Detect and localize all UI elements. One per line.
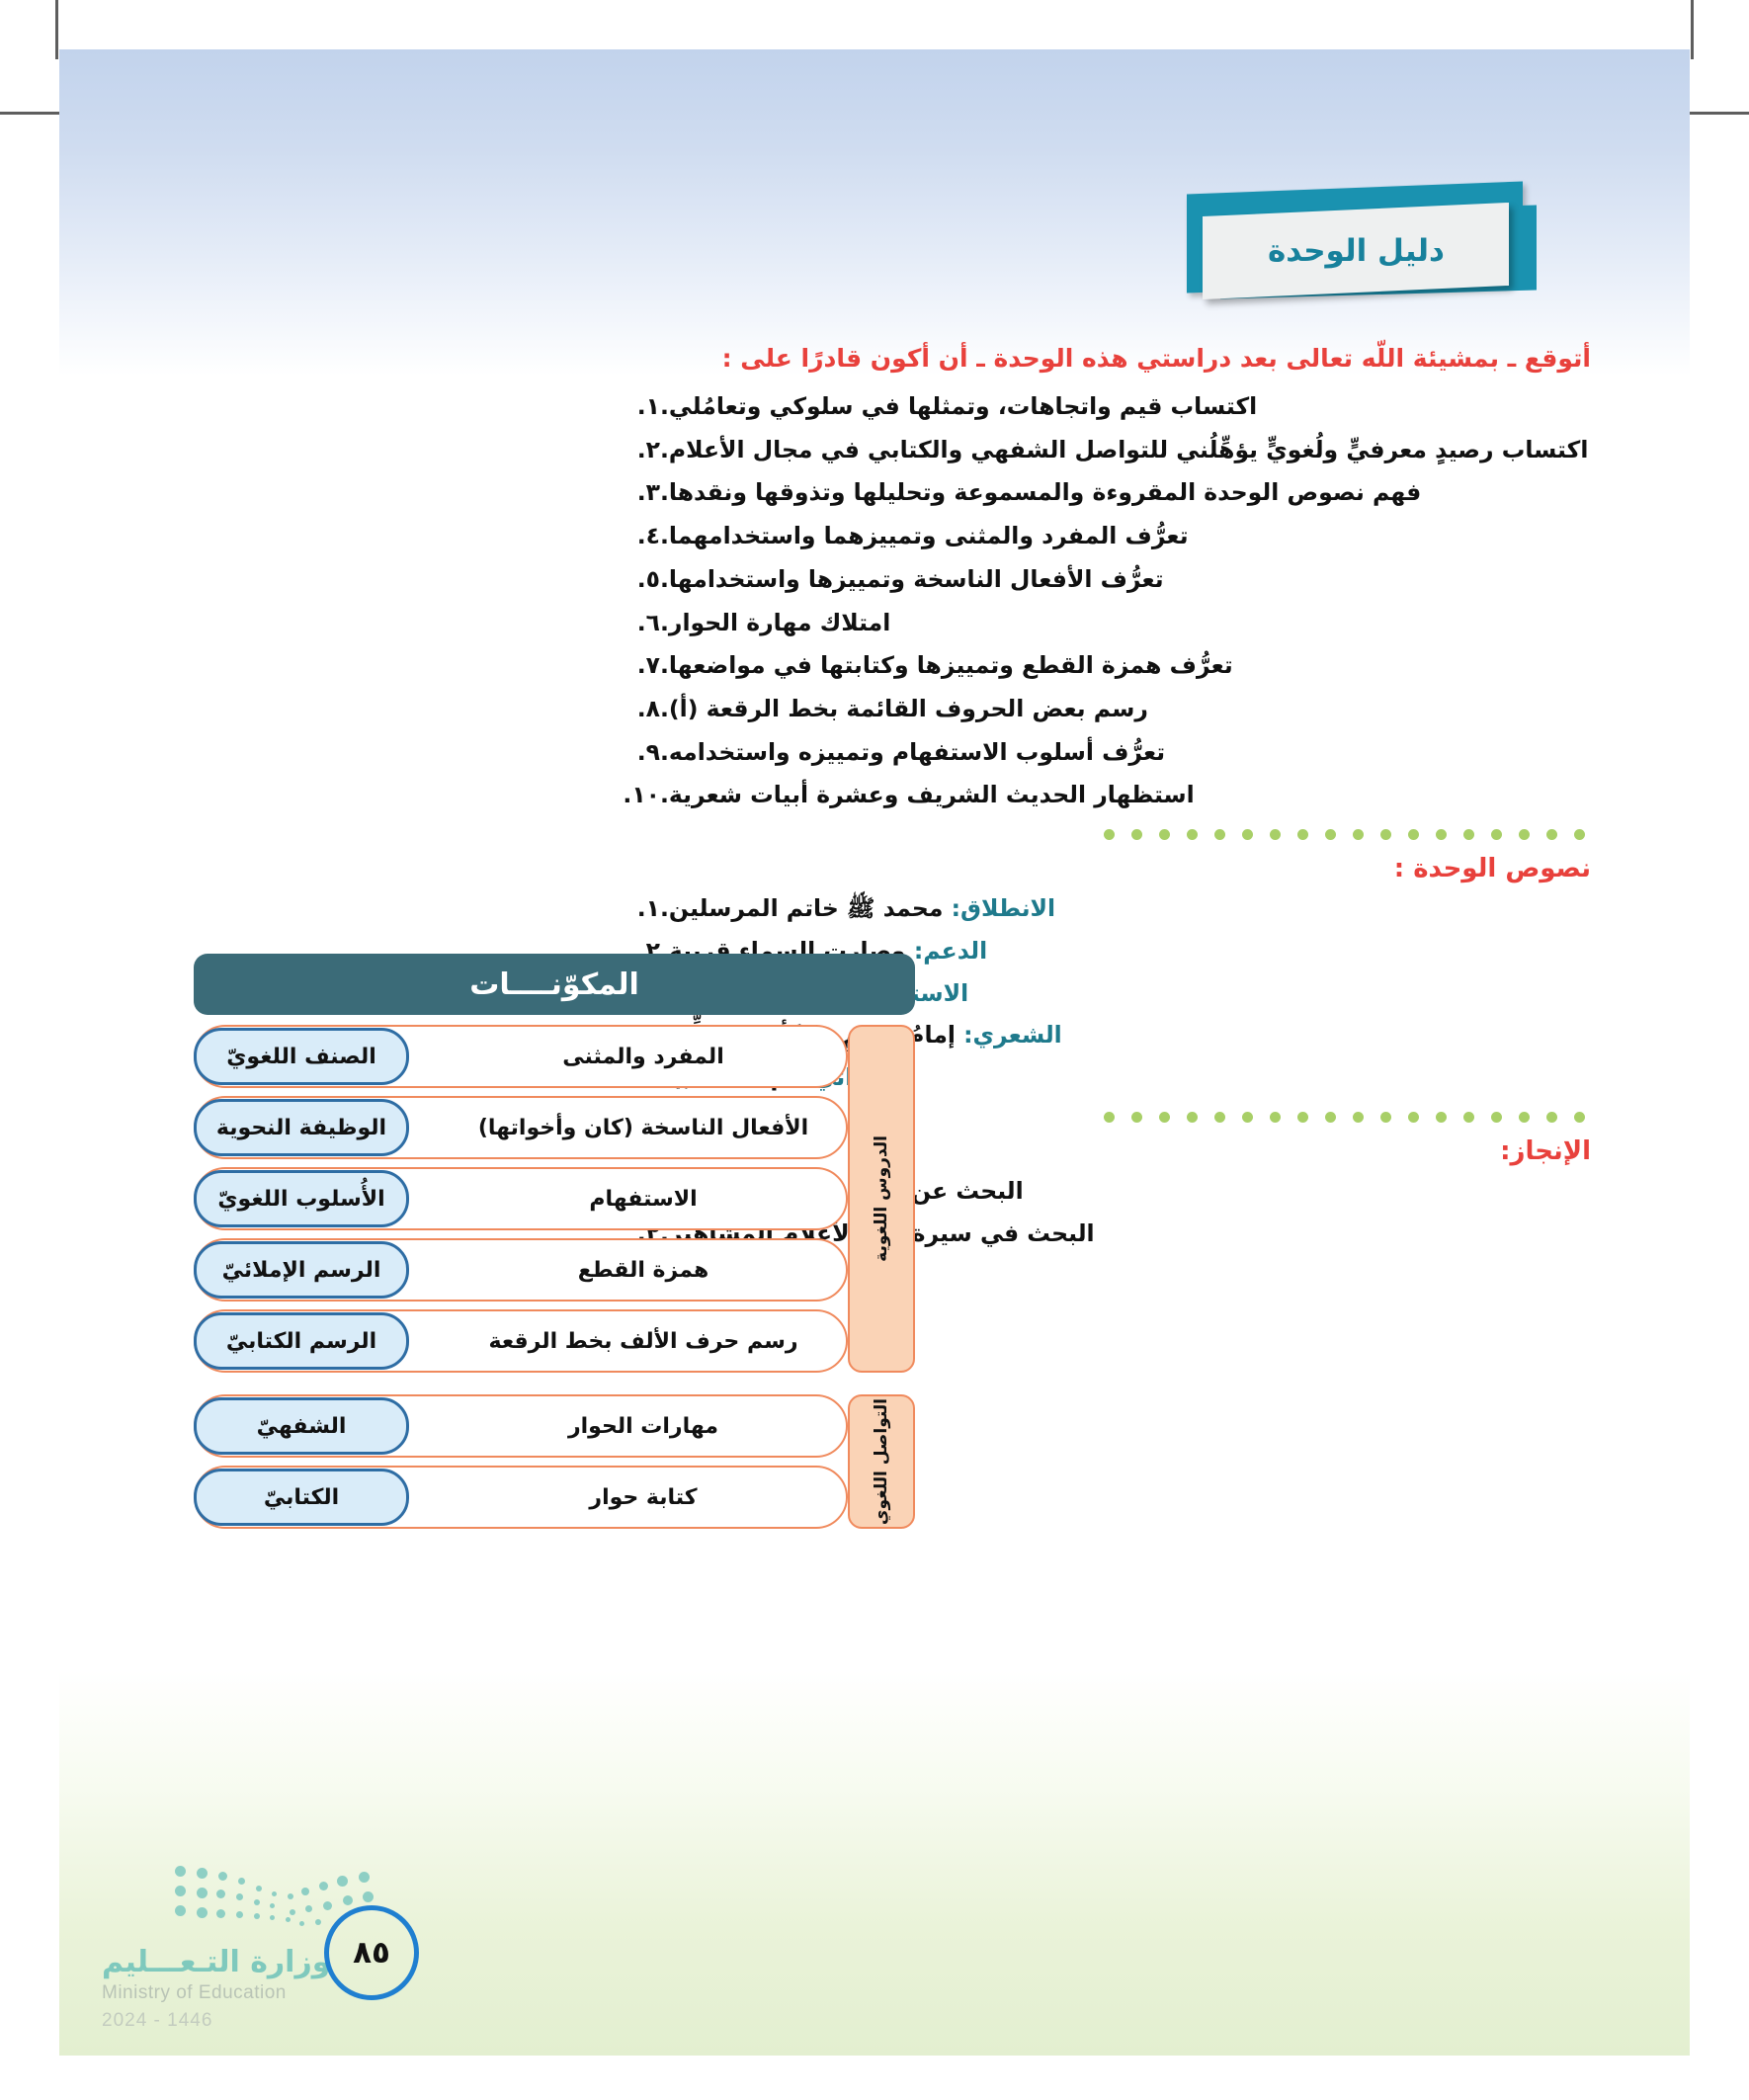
list-item: ٢.اكتساب رصيدٍ معرفيٍّ ولُغويٍّ يؤهِّلُن… (593, 435, 1591, 466)
row-description: مهارات الحوار (415, 1414, 872, 1439)
list-number: ٨. (593, 694, 660, 725)
row-description: رسم حرف الألف بخط الرقعة (415, 1329, 872, 1354)
components-table: المكوّنــــات الدروس اللغوية الصنف اللغو… (194, 954, 915, 1529)
list-item: ١٠.استظهار الحديث الشريف وعشرة أبيات شعر… (593, 780, 1591, 811)
unit-texts-title: نصوص الوحدة : (593, 854, 1591, 883)
group-rows: الشفهيّ مهارات الحوار الكتابيّ كتابة حوا… (194, 1394, 915, 1529)
row-pill: الكتابيّ (194, 1469, 409, 1526)
objectives-list: ١.اكتساب قيم واتجاهات، وتمثلها في سلوكي … (593, 391, 1591, 811)
dotted-separator (593, 829, 1591, 840)
list-text: فهم نصوص الوحدة المقروءة والمسموعة وتحلي… (660, 477, 1591, 509)
row-pill: الصنف اللغويّ (194, 1028, 409, 1085)
table-row: الشفهيّ مهارات الحوار (194, 1394, 872, 1458)
row-description: همزة القطع (415, 1258, 872, 1283)
crop-mark-top-right-horizontal (1690, 112, 1749, 115)
text-value: محمد ﷺ خاتم المرسلين. (660, 894, 943, 922)
table-row: الصنف اللغويّ المفرد والمثنى (194, 1025, 872, 1088)
crop-mark-top-left-vertical (55, 0, 58, 59)
row-pill: الرسم الكتابيّ (194, 1312, 409, 1370)
components-group-language-lessons: الدروس اللغوية الصنف اللغويّ المفرد والم… (194, 1025, 915, 1373)
list-number: ١٠. (593, 780, 660, 811)
row-description: المفرد والمثنى (415, 1045, 872, 1069)
crop-mark-top-right-vertical (1691, 0, 1694, 59)
page-number: ٨٥ (324, 1905, 419, 2000)
list-text: تعرُّف همزة القطع وتمييزها وكتابتها في م… (660, 650, 1591, 682)
list-text: استظهار الحديث الشريف وعشرة أبيات شعرية. (660, 780, 1591, 811)
list-text: اكتساب رصيدٍ معرفيٍّ ولُغويٍّ يؤهِّلُني … (660, 435, 1591, 466)
list-number: ٦. (593, 608, 660, 639)
components-group-language-communication: التواصل اللغوي الشفهيّ مهارات الحوار الك… (194, 1394, 915, 1529)
row-pill: الشفهيّ (194, 1397, 409, 1455)
unit-guide-banner: دليل الوحدة (1181, 188, 1537, 306)
list-text: تعرُّف الأفعال الناسخة وتمييزها واستخدام… (660, 564, 1591, 596)
list-number: ٥. (593, 564, 660, 596)
row-description: كتابة حوار (415, 1485, 872, 1510)
list-item: ٤.تعرُّف المفرد والمثنى وتمييزهما واستخد… (593, 521, 1591, 552)
list-number: ٤. (593, 521, 660, 552)
list-item: ٣.فهم نصوص الوحدة المقروءة والمسموعة وتح… (593, 477, 1591, 509)
list-number: ٧. (593, 650, 660, 682)
objectives-intro: أتوقع ـ بمشيئة اللّه تعالى بعد دراستي هذ… (593, 341, 1591, 376)
row-pill: الرسم الإملائيّ (194, 1241, 409, 1299)
list-text: تعرُّف المفرد والمثنى وتمييزهما واستخدام… (660, 521, 1591, 552)
crop-mark-top-left-horizontal (0, 112, 59, 115)
banner-front: دليل الوحدة (1203, 203, 1509, 299)
text-label: الانطلاق: (952, 894, 1056, 922)
list-item: ٥.تعرُّف الأفعال الناسخة وتمييزها واستخد… (593, 564, 1591, 596)
row-pill: الوظيفة النحوية (194, 1099, 409, 1156)
row-pill: الأُسلوب اللغويّ (194, 1170, 409, 1227)
list-text: تعرُّف أسلوب الاستفهام وتمييزه واستخدامه… (660, 737, 1591, 769)
text-label: الدعم: (914, 937, 987, 965)
table-row: الرسم الإملائيّ همزة القطع (194, 1238, 872, 1302)
list-number: ٢. (593, 435, 660, 466)
page-footer: وزارة التـعـــليم Ministry of Education … (94, 1858, 509, 2046)
table-row: الكتابيّ كتابة حوار (194, 1466, 872, 1529)
list-item: ١.الانطلاق: محمد ﷺ خاتم المرسلين. (593, 893, 1591, 925)
list-item: ٧.تعرُّف همزة القطع وتمييزها وكتابتها في… (593, 650, 1591, 682)
list-text: امتلاك مهارة الحوار. (660, 608, 1591, 639)
table-row: الوظيفة النحوية الأفعال الناسخة (كان وأخ… (194, 1096, 872, 1159)
ministry-name-english: Ministry of Education (102, 1982, 287, 2004)
list-number: ١. (593, 391, 660, 423)
list-text: رسم بعض الحروف القائمة بخط الرقعة (أ). (660, 694, 1591, 725)
list-number: ٣. (593, 477, 660, 509)
row-description: الاستفهام (415, 1187, 872, 1212)
ministry-years: 2024 - 1446 (102, 2010, 212, 2032)
text-label: الشعري: (963, 1021, 1062, 1049)
list-item: ٩.تعرُّف أسلوب الاستفهام وتمييزه واستخدا… (593, 737, 1591, 769)
banner-title: دليل الوحدة (1268, 233, 1445, 269)
table-row: الرسم الكتابيّ رسم حرف الألف بخط الرقعة (194, 1309, 872, 1373)
list-number: ١. (593, 893, 660, 925)
list-body: الانطلاق: محمد ﷺ خاتم المرسلين. (660, 893, 1591, 925)
row-description: الأفعال الناسخة (كان وأخواتها) (415, 1116, 872, 1140)
list-item: ١.اكتساب قيم واتجاهات، وتمثلها في سلوكي … (593, 391, 1591, 423)
table-row: الأُسلوب اللغويّ الاستفهام (194, 1167, 872, 1230)
list-item: ٨.رسم بعض الحروف القائمة بخط الرقعة (أ). (593, 694, 1591, 725)
group-rows: الصنف اللغويّ المفرد والمثنى الوظيفة الن… (194, 1025, 915, 1373)
list-text: اكتساب قيم واتجاهات، وتمثلها في سلوكي وت… (660, 391, 1591, 423)
list-item: ٦.امتلاك مهارة الحوار. (593, 608, 1591, 639)
list-number: ٩. (593, 737, 660, 769)
components-header: المكوّنــــات (194, 954, 915, 1015)
ministry-name-arabic: وزارة التـعـــليم (102, 1945, 330, 1979)
